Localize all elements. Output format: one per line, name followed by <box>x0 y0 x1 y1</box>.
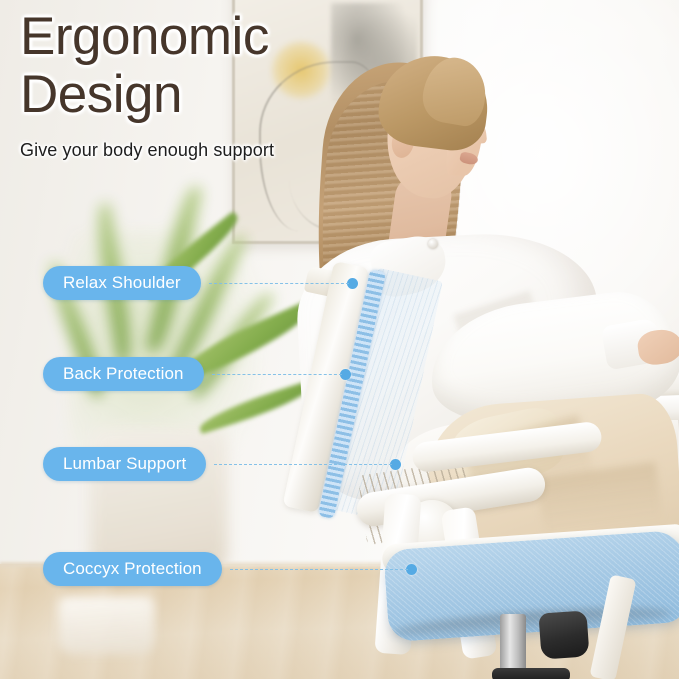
callout-leader-line <box>214 464 392 465</box>
headline-line-1: Ergonomic <box>20 8 440 66</box>
callout-leader-line <box>230 569 408 570</box>
callout-leader-line <box>209 283 349 284</box>
headline-line-2: Design <box>20 66 440 124</box>
callout-label-lumbar-support[interactable]: Lumbar Support <box>43 447 206 481</box>
headline-block: Ergonomic Design Give your body enough s… <box>20 8 440 161</box>
callout-back-protection[interactable]: Back Protection <box>43 357 351 391</box>
callout-coccyx-protection[interactable]: Coccyx Protection <box>43 552 417 586</box>
callout-relax-shoulder[interactable]: Relax Shoulder <box>43 266 358 300</box>
callout-label-back-protection[interactable]: Back Protection <box>43 357 204 391</box>
product-photo-scene: Relax Shoulder Back Protection Lumbar Su… <box>0 0 679 679</box>
callout-label-coccyx-protection[interactable]: Coccyx Protection <box>43 552 222 586</box>
callout-lumbar-support[interactable]: Lumbar Support <box>43 447 401 481</box>
headline-subtitle: Give your body enough support <box>20 140 440 161</box>
callout-label-relax-shoulder[interactable]: Relax Shoulder <box>43 266 201 300</box>
callout-leader-line <box>212 374 342 375</box>
